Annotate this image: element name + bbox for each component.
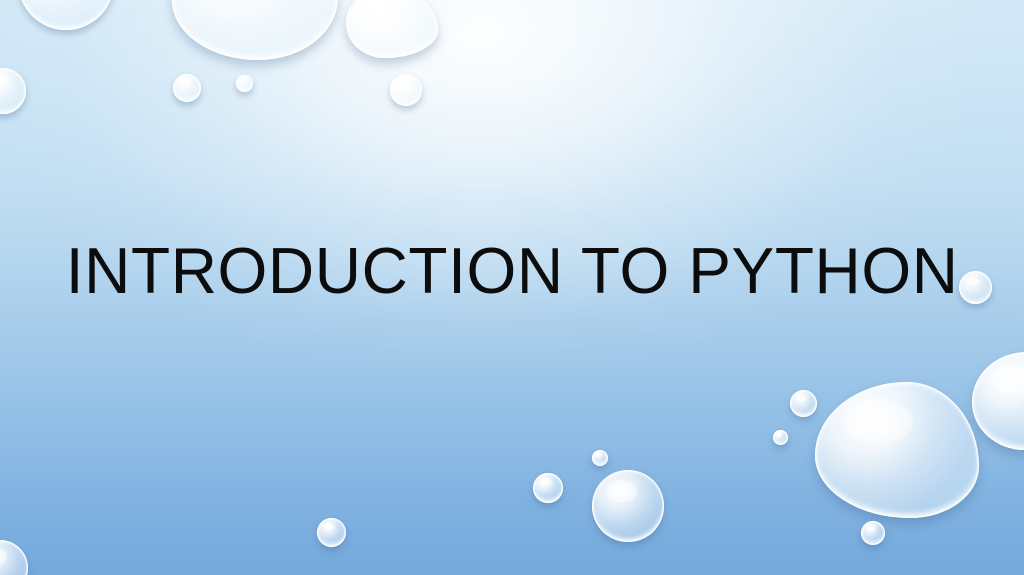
water-droplet-icon — [173, 74, 201, 102]
water-droplet-icon — [317, 518, 346, 547]
water-droplet-icon — [972, 352, 1024, 450]
water-droplet-icon — [861, 521, 885, 545]
water-droplet-icon — [0, 68, 26, 114]
title-placeholder[interactable]: INTRODUCTION TO PYTHON — [0, 236, 1024, 306]
water-droplet-icon — [346, 0, 438, 58]
water-droplet-icon — [0, 540, 28, 575]
water-droplet-icon — [533, 473, 563, 503]
water-droplet-icon — [172, 0, 338, 60]
water-droplet-icon — [592, 450, 608, 466]
water-droplet-icon — [790, 390, 817, 417]
water-droplet-icon — [592, 470, 664, 542]
water-droplet-icon — [815, 382, 979, 518]
presentation-slide: INTRODUCTION TO PYTHON — [0, 0, 1024, 575]
water-droplet-icon — [236, 75, 253, 92]
water-droplet-icon — [773, 430, 788, 445]
water-droplet-icon — [18, 0, 114, 30]
page-title: INTRODUCTION TO PYTHON — [66, 236, 959, 306]
water-droplet-icon — [390, 74, 422, 106]
